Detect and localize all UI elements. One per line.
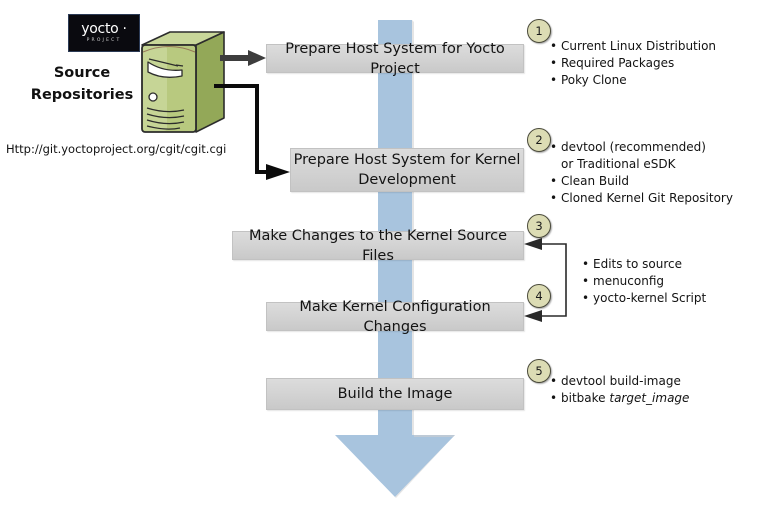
list-item: devtool build-image — [550, 373, 689, 390]
step-number-4: 4 — [527, 284, 551, 308]
source-label-line2: Repositories — [18, 84, 146, 106]
process-box-step-3[interactable]: Make Changes to the Kernel Source Files — [232, 231, 524, 260]
list-item: Current Linux Distribution — [550, 38, 716, 55]
process-box-step-1[interactable]: Prepare Host System for Yocto Project — [266, 44, 524, 73]
list-item: Edits to source — [582, 256, 706, 273]
process-box-step-5[interactable]: Build the Image — [266, 378, 524, 410]
diagram-canvas: yocto · PROJECT Source Repositories Http… — [0, 0, 769, 517]
notes-list-step-1: Current Linux Distribution Required Pack… — [550, 38, 716, 89]
connector-server-to-step1 — [220, 50, 266, 66]
list-item: Cloned Kernel Git Repository — [550, 190, 733, 207]
list-item-text: devtool build-image — [561, 374, 681, 388]
connector-server-to-step2 — [214, 86, 290, 180]
process-box-label: Build the Image — [338, 384, 453, 404]
list-item: bitbake target_image — [550, 390, 689, 407]
notes-list-step-5: devtool build-image bitbake target_image — [550, 373, 689, 407]
list-item: Clean Build — [550, 173, 733, 190]
process-box-step-4[interactable]: Make Kernel Configuration Changes — [266, 302, 524, 331]
notes-list-steps-3-4: Edits to source menuconfig yocto-kernel … — [582, 256, 706, 307]
list-item: Poky Clone — [550, 72, 716, 89]
list-item: Required Packages — [550, 55, 716, 72]
process-box-label: Prepare Host System for Kernel Developme… — [294, 150, 521, 190]
step-number-5: 5 — [527, 359, 551, 383]
step-number-2: 2 — [527, 128, 551, 152]
logo-subtitle: PROJECT — [87, 37, 122, 44]
yocto-project-logo: yocto · PROJECT — [68, 14, 140, 52]
step-number-1: 1 — [527, 19, 551, 43]
process-box-label: Prepare Host System for Yocto Project — [267, 39, 523, 79]
process-box-label-line1: Prepare Host System for Kernel — [294, 152, 521, 168]
source-repositories-label: Source Repositories — [18, 62, 146, 106]
connector-notes-to-steps-3-4 — [524, 238, 566, 322]
notes-list-step-2: devtool (recommended) or Traditional eSD… — [550, 139, 733, 207]
logo-wordmark: yocto · — [81, 22, 126, 36]
list-item: menuconfig — [582, 273, 706, 290]
list-item: yocto-kernel Script — [582, 290, 706, 307]
process-box-label: Make Changes to the Kernel Source Files — [233, 226, 523, 266]
list-item-text: bitbake — [561, 391, 609, 405]
process-box-label: Make Kernel Configuration Changes — [267, 297, 523, 337]
process-box-step-2[interactable]: Prepare Host System for Kernel Developme… — [290, 148, 524, 192]
step-number-3: 3 — [527, 214, 551, 238]
server-tower-icon — [142, 32, 224, 132]
process-box-label-line2: Development — [358, 172, 456, 188]
list-item-emphasis: target_image — [609, 391, 689, 405]
list-item: devtool (recommended) or Traditional eSD… — [550, 139, 719, 173]
source-repository-url: Http://git.yoctoproject.org/cgit/cgit.cg… — [6, 142, 226, 156]
source-label-line1: Source — [18, 62, 146, 84]
